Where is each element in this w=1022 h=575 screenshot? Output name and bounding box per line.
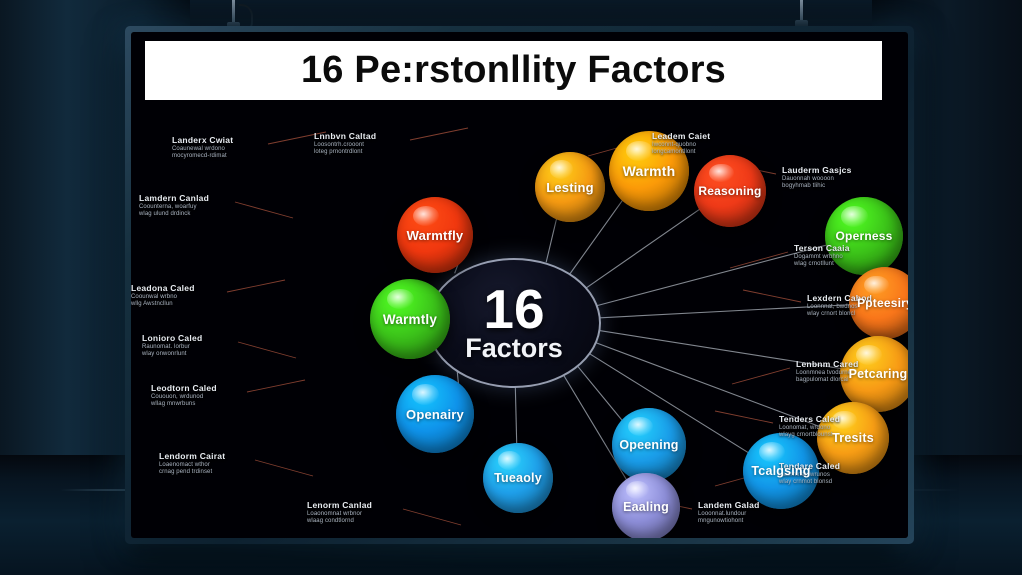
label-leader-line bbox=[403, 509, 461, 525]
annotation-line-2: crnag pend trdinset bbox=[159, 469, 225, 477]
annotation-title: Leadona Caled bbox=[131, 284, 195, 294]
annotation-title: Lonioro Caled bbox=[142, 334, 202, 344]
label-leader-line bbox=[410, 128, 468, 140]
label-leader-line bbox=[715, 411, 773, 423]
annotation-label: Lonioro CaledRaunomat. lorburwlay onwonr… bbox=[142, 334, 202, 359]
factor-node[interactable]: Openairy bbox=[396, 375, 474, 453]
annotation-line-2: wllag mnwrbuns bbox=[151, 401, 217, 409]
annotation-title: Lamdern Canlad bbox=[139, 194, 209, 204]
factor-node-label: Openairy bbox=[402, 407, 468, 422]
annotation-title: Tenders Caled bbox=[779, 415, 840, 425]
center-hub-node[interactable]: 16 Factors bbox=[427, 258, 601, 388]
annotation-label: Lauderm GasjcsDauonnah woooonbogyhmab tl… bbox=[782, 166, 852, 191]
annotation-title: Terson Caaia bbox=[794, 244, 850, 254]
annotation-label: Landem GaladLooonnat.lundourmngunowtioho… bbox=[698, 501, 760, 526]
annotation-line-2: mocyromecd-rdimat bbox=[172, 153, 233, 161]
page-title: 16 Pe:rstonllity Factors bbox=[301, 49, 726, 92]
annotation-title: Leodtorn Caled bbox=[151, 384, 217, 394]
annotation-label: Landerx CwiatCoaunewal wrdonomocyromecd-… bbox=[172, 136, 233, 161]
annotation-line-2: wlay onwonrlunt bbox=[142, 351, 202, 359]
node-specular-highlight bbox=[759, 442, 785, 462]
annotation-title: Lendorm Cairat bbox=[159, 452, 225, 462]
node-specular-highlight bbox=[413, 206, 439, 226]
annotation-line-2: wlaag condtlornd bbox=[307, 518, 372, 526]
factor-node[interactable]: Warmtfly bbox=[397, 197, 473, 273]
factor-node[interactable]: Eaaling bbox=[612, 473, 680, 538]
label-leader-line bbox=[730, 252, 788, 268]
annotation-line-2: wllg Awstncllun bbox=[131, 301, 195, 309]
annotation-label: Lendorm CairatLoaenomact wthorcrnag pend… bbox=[159, 452, 225, 477]
annotation-line-2: wlag crnotllunt bbox=[794, 261, 850, 269]
factor-node-label: Warmtly bbox=[379, 312, 441, 327]
node-specular-highlight bbox=[498, 451, 522, 469]
node-specular-highlight bbox=[856, 345, 882, 365]
node-specular-highlight bbox=[626, 481, 649, 499]
annotation-title: Leadem Caiet bbox=[652, 132, 710, 142]
node-specular-highlight bbox=[864, 276, 888, 295]
factor-node[interactable]: Tueaoly bbox=[483, 443, 553, 513]
factor-node[interactable]: Opeening bbox=[612, 408, 686, 482]
factor-node-label: Tueaoly bbox=[490, 471, 546, 485]
scene-backdrop: 16 Pe:rstonllity Factors 16 Factors Lest… bbox=[0, 0, 1022, 575]
screen-surface: 16 Pe:rstonllity Factors 16 Factors Lest… bbox=[131, 32, 908, 538]
node-specular-highlight bbox=[626, 141, 653, 162]
node-specular-highlight bbox=[841, 206, 868, 226]
factor-node-label: Tcalgsing bbox=[747, 464, 814, 478]
annotation-label: Lnnbvn CaltadLoosontrh.crooontloteg prno… bbox=[314, 132, 376, 157]
annotation-line-2: wlag ulund drdinck bbox=[139, 211, 209, 219]
hub-spoke bbox=[586, 208, 701, 288]
annotation-label: Lenorm CanladLoaonomnat wrbnorwlaag cond… bbox=[307, 501, 372, 526]
factor-node-label: Warmtfly bbox=[403, 228, 468, 243]
node-specular-highlight bbox=[550, 160, 574, 178]
label-leader-line bbox=[238, 342, 296, 358]
factor-node-label: Operness bbox=[832, 229, 897, 243]
factor-node-label: Reasoning bbox=[694, 184, 765, 198]
annotation-line-2: mngunowtiohont bbox=[698, 518, 760, 526]
label-leader-line bbox=[732, 368, 790, 384]
hub-label: Factors bbox=[465, 335, 563, 362]
annotation-label: Leadona CaledCoounwal wrbnowllg Awstncll… bbox=[131, 284, 195, 309]
factor-node-label: Lesting bbox=[542, 180, 598, 195]
hub-spoke bbox=[515, 385, 516, 445]
annotation-label: Lamdern CanladCoounterna, woarfuywlag ul… bbox=[139, 194, 209, 219]
annotation-label: Leodtorn CaledCououon, wrdunodwllag mnwr… bbox=[151, 384, 217, 409]
label-leader-line bbox=[255, 460, 313, 476]
annotation-label: Leadem CaietIwconnt-quobnolongcamontllon… bbox=[652, 132, 710, 157]
annotation-title: Lauderm Gasjcs bbox=[782, 166, 852, 176]
annotation-line-2: wlay crnort bloncl bbox=[807, 311, 872, 319]
label-leader-line bbox=[227, 280, 285, 292]
factor-node-label: Tresits bbox=[828, 431, 878, 445]
factor-node-label: Ppteesiry bbox=[853, 296, 908, 310]
mindmap-canvas: 16 Factors LestingWarmthReasoningOpernes… bbox=[131, 98, 896, 526]
factor-node-label: Petcaring bbox=[845, 367, 908, 381]
annotation-line-2: wlay crnmot blonsd bbox=[779, 479, 840, 487]
label-leader-line bbox=[247, 380, 305, 392]
hub-spoke bbox=[576, 364, 623, 422]
factor-node-label: Opeening bbox=[615, 438, 682, 452]
factor-node-label: Warmth bbox=[619, 163, 680, 179]
node-specular-highlight bbox=[387, 289, 414, 310]
slide-title-bar: 16 Pe:rstonllity Factors bbox=[145, 41, 882, 100]
monitor-bezel: 16 Pe:rstonllity Factors 16 Factors Lest… bbox=[131, 32, 908, 538]
factor-node-label: Eaaling bbox=[619, 500, 673, 514]
node-specular-highlight bbox=[412, 384, 439, 404]
annotation-line-2: bogyhmab tlihic bbox=[782, 183, 852, 191]
factor-node[interactable]: Tcalgsing bbox=[743, 433, 819, 509]
factor-node[interactable]: Petcaring bbox=[840, 336, 908, 412]
factor-node[interactable]: Reasoning bbox=[694, 155, 766, 227]
node-specular-highlight bbox=[628, 417, 653, 436]
annotation-title: Lenorm Canlad bbox=[307, 501, 372, 511]
hub-number: 16 bbox=[483, 284, 544, 335]
annotation-title: Landem Galad bbox=[698, 501, 760, 511]
factor-node[interactable]: Warmtly bbox=[370, 279, 450, 359]
label-leader-line bbox=[743, 290, 801, 302]
annotation-line-2: longcamontllont bbox=[652, 149, 710, 157]
display-monitor: 16 Pe:rstonllity Factors 16 Factors Lest… bbox=[125, 26, 914, 544]
annotation-line-2: loteg prnontrdlont bbox=[314, 149, 376, 157]
node-specular-highlight bbox=[709, 164, 733, 183]
factor-node[interactable]: Lesting bbox=[535, 152, 605, 222]
annotation-title: Lnnbvn Caltad bbox=[314, 132, 376, 142]
hub-spoke bbox=[546, 217, 557, 262]
label-leader-line bbox=[235, 202, 293, 218]
annotation-title: Landerx Cwiat bbox=[172, 136, 233, 146]
annotation-label: Terson CaaiaDogammt wrbhnowlag crnotllun… bbox=[794, 244, 850, 269]
